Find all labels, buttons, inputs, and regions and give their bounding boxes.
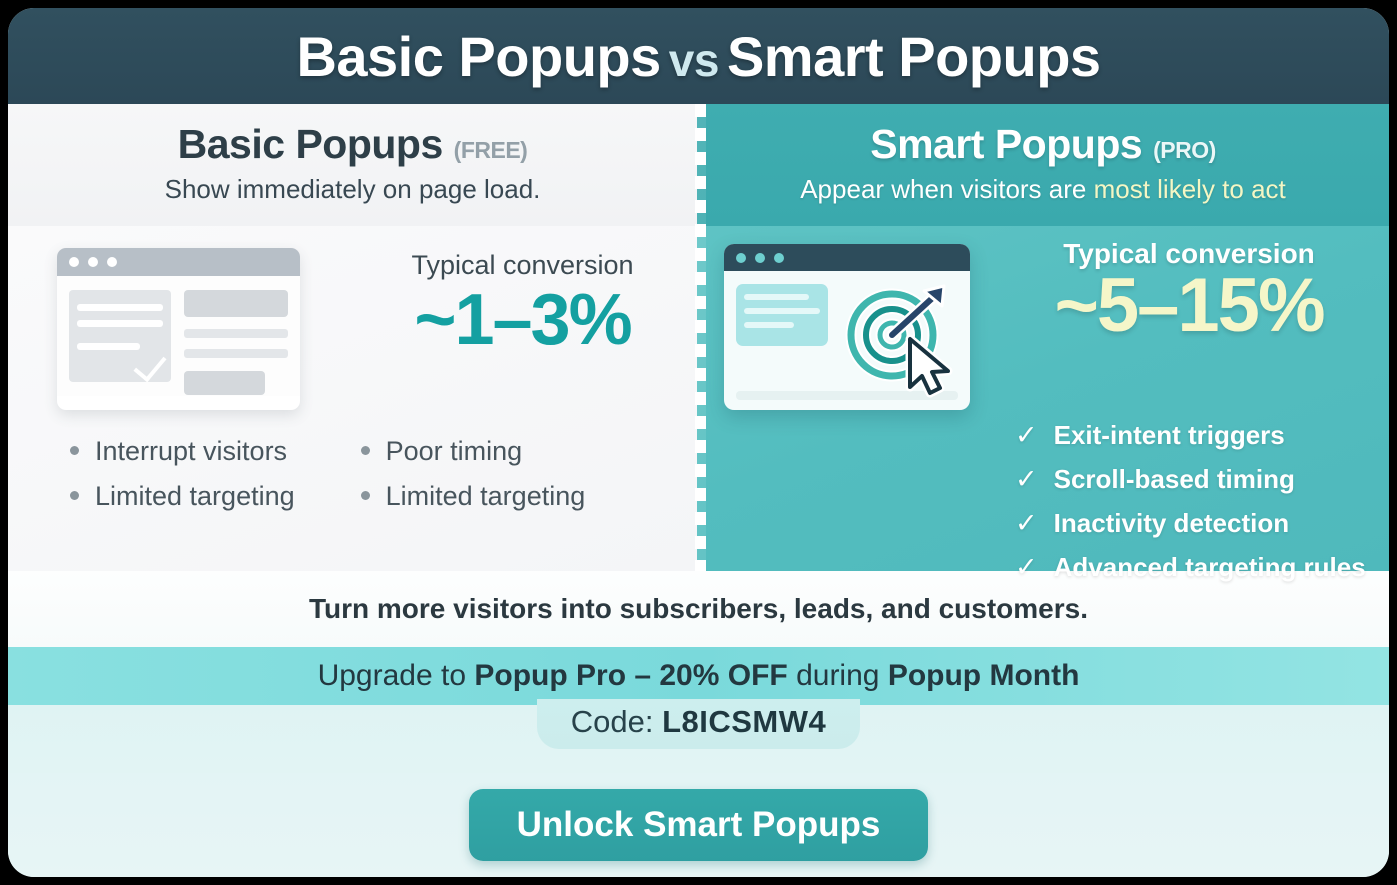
check-icon: ✓ xyxy=(1015,422,1038,449)
list-item: ✓ Exit-intent triggers xyxy=(1015,420,1389,451)
smart-subtitle-plain: Appear when visitors are xyxy=(800,174,1093,204)
target-bullseye-icon xyxy=(836,277,964,399)
list-item-label: Interrupt visitors xyxy=(95,436,287,467)
basic-drawbacks-column-2: Poor timing Limited targeting xyxy=(361,436,586,526)
window-dot-icon xyxy=(69,257,79,267)
check-icon: ✓ xyxy=(1015,510,1038,537)
browser-window-target-icon xyxy=(724,244,970,410)
upgrade-promo-text: Upgrade to Popup Pro – 20% OFF during Po… xyxy=(318,659,1080,693)
tagline-text: Turn more visitors into subscribers, lea… xyxy=(309,593,1088,625)
upgrade-prefix: Upgrade to xyxy=(318,659,475,692)
smart-subtitle-highlight: most likely to act xyxy=(1094,174,1286,204)
window-dot-icon xyxy=(88,257,98,267)
header-title-left: Basic Popups xyxy=(296,25,660,88)
basic-column-subtitle: Show immediately on page load. xyxy=(8,174,697,205)
promo-code-section: Code: L8ICSMW4 xyxy=(8,705,1389,773)
list-item-label: Poor timing xyxy=(386,436,523,467)
basic-column-title: Basic Popups (FREE) xyxy=(8,121,697,168)
column-basic-popups: Basic Popups (FREE) Show immediately on … xyxy=(8,104,697,571)
smart-column-title: Smart Popups (PRO) xyxy=(697,121,1389,168)
window-dot-icon xyxy=(107,257,117,267)
browser-content-teal xyxy=(724,271,970,410)
cta-section: Unlock Smart Popups xyxy=(8,773,1389,877)
list-item: Limited targeting xyxy=(361,481,586,512)
bullet-dot-icon xyxy=(70,446,79,455)
smart-conversion-stat: Typical conversion ~5–15% xyxy=(997,234,1389,410)
list-item-label: Exit-intent triggers xyxy=(1054,420,1285,451)
smart-column-body: Typical conversion ~5–15% ✓ Exit-intent … xyxy=(697,226,1389,571)
perforated-divider xyxy=(695,104,706,571)
list-item: Interrupt visitors xyxy=(70,436,295,467)
list-item-label: Limited targeting xyxy=(386,481,586,512)
list-item-label: Limited targeting xyxy=(95,481,295,512)
browser-content-grey xyxy=(57,276,300,396)
window-dot-icon xyxy=(774,253,784,263)
list-item-label: Inactivity detection xyxy=(1054,508,1290,539)
bullet-dot-icon xyxy=(361,491,370,500)
list-item: ✓ Scroll-based timing xyxy=(1015,464,1389,495)
smart-column-header: Smart Popups (PRO) Appear when visitors … xyxy=(697,104,1389,226)
basic-mockup-area xyxy=(8,240,348,410)
check-icon: ✓ xyxy=(1015,466,1038,493)
infographic-card: Basic PopupsvsSmart Popups Basic Popups … xyxy=(8,8,1389,877)
smart-stat-value: ~5–15% xyxy=(997,268,1381,344)
popup-card-placeholder xyxy=(69,290,171,382)
basic-drawbacks-list: Interrupt visitors Limited targeting Poo… xyxy=(8,436,697,526)
basic-tier-badge: (FREE) xyxy=(454,137,528,163)
smart-popup-card-placeholder xyxy=(736,284,828,346)
browser-titlebar-teal xyxy=(724,244,970,271)
comparison-section: Basic Popups (FREE) Show immediately on … xyxy=(8,104,1389,571)
basic-conversion-stat: Typical conversion ~1–3% xyxy=(348,240,697,410)
unlock-smart-popups-button[interactable]: Unlock Smart Popups xyxy=(469,789,929,861)
check-mark-icon xyxy=(133,348,166,383)
upgrade-mid: during xyxy=(788,659,888,692)
promo-code-chip[interactable]: Code: L8ICSMW4 xyxy=(537,699,861,749)
basic-column-header: Basic Popups (FREE) Show immediately on … xyxy=(8,104,697,226)
basic-title-text: Basic Popups xyxy=(178,121,443,167)
promo-code-value: L8ICSMW4 xyxy=(662,704,826,739)
page-title: Basic PopupsvsSmart Popups xyxy=(296,24,1100,89)
basic-stat-value: ~1–3% xyxy=(348,283,697,359)
window-dot-icon xyxy=(736,253,746,263)
list-item-label: Scroll-based timing xyxy=(1054,464,1295,495)
browser-titlebar-grey xyxy=(57,248,300,276)
list-item: Limited targeting xyxy=(70,481,295,512)
upgrade-event: Popup Month xyxy=(888,659,1080,692)
bullet-dot-icon xyxy=(70,491,79,500)
smart-tier-badge: (PRO) xyxy=(1153,137,1216,163)
upgrade-offer: Popup Pro – 20% OFF xyxy=(474,659,787,692)
smart-mockup-area xyxy=(697,234,997,410)
upgrade-promo-band: Upgrade to Popup Pro – 20% OFF during Po… xyxy=(8,647,1389,705)
basic-stat-label: Typical conversion xyxy=(348,250,697,281)
header-title-right: Smart Popups xyxy=(727,25,1101,88)
smart-title-text: Smart Popups xyxy=(870,121,1142,167)
basic-drawbacks-column-1: Interrupt visitors Limited targeting xyxy=(70,436,295,526)
check-icon: ✓ xyxy=(1015,554,1038,581)
column-smart-popups: Smart Popups (PRO) Appear when visitors … xyxy=(697,104,1389,571)
list-item: Poor timing xyxy=(361,436,586,467)
promo-code-label: Code: xyxy=(571,704,662,739)
browser-window-grey-icon xyxy=(57,248,300,410)
smart-column-subtitle: Appear when visitors are most likely to … xyxy=(697,174,1389,205)
list-item: ✓ Inactivity detection xyxy=(1015,508,1389,539)
smart-features-list: ✓ Exit-intent triggers ✓ Scroll-based ti… xyxy=(697,420,1389,583)
header-vs-label: vs xyxy=(669,34,719,86)
list-item-label: Advanced targeting rules xyxy=(1054,552,1366,583)
list-item: ✓ Advanced targeting rules xyxy=(1015,552,1389,583)
window-dot-icon xyxy=(755,253,765,263)
content-placeholder-lines xyxy=(184,290,288,382)
basic-column-body: Typical conversion ~1–3% Interrupt visit… xyxy=(8,226,697,571)
bullet-dot-icon xyxy=(361,446,370,455)
header-banner: Basic PopupsvsSmart Popups xyxy=(8,8,1389,104)
